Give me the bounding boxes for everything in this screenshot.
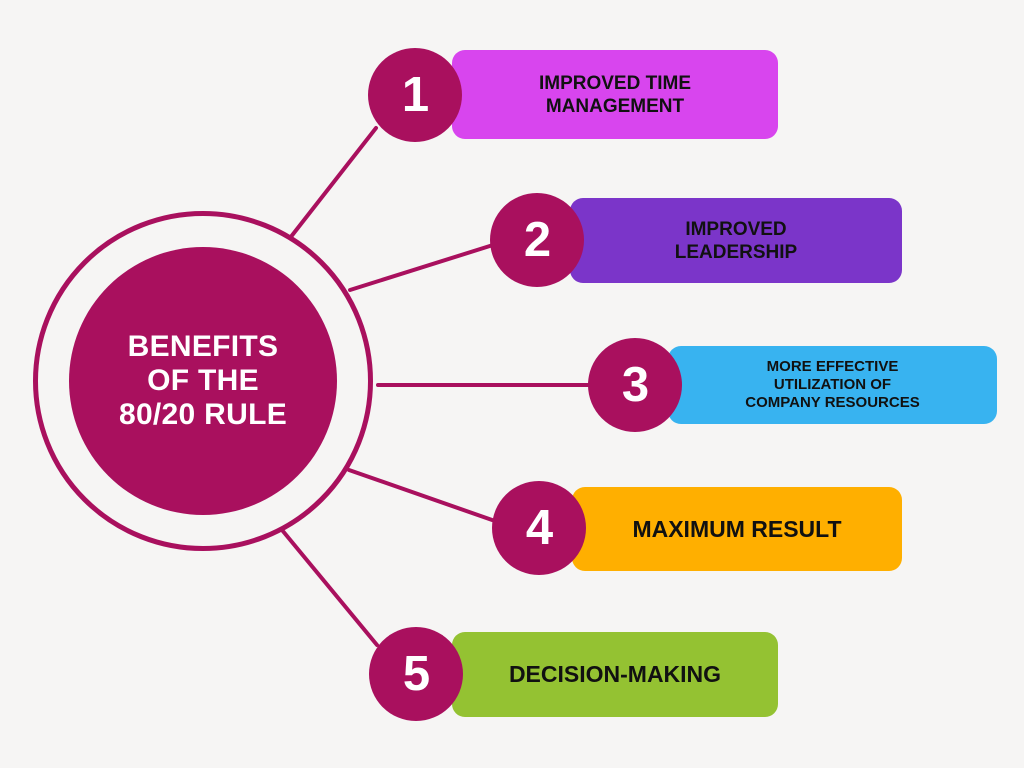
infographic-canvas: BENEFITS OF THE 80/20 RULE IMPROVED TIME… [0,0,1024,768]
benefit-number-badge-5[interactable]: 5 [369,627,463,721]
benefit-bar-4[interactable]: MAXIMUM RESULT [572,487,902,571]
benefit-number-badge-3[interactable]: 3 [588,338,682,432]
benefit-number-1: 1 [402,71,428,120]
benefit-number-2: 2 [524,216,550,265]
benefit-bar-2[interactable]: IMPROVED LEADERSHIP [570,198,902,283]
hub-inner-disc: BENEFITS OF THE 80/20 RULE [69,247,337,515]
central-hub[interactable]: BENEFITS OF THE 80/20 RULE [33,211,373,551]
benefit-number-5: 5 [403,650,429,699]
benefit-bar-5[interactable]: DECISION-MAKING [452,632,778,717]
benefit-number-3: 3 [622,361,648,410]
benefit-label-5: DECISION-MAKING [452,661,778,688]
benefit-number-4: 4 [526,504,552,553]
benefit-label-2: IMPROVED LEADERSHIP [570,218,902,264]
benefit-number-badge-4[interactable]: 4 [492,481,586,575]
benefit-label-1: IMPROVED TIME MANAGEMENT [452,72,778,118]
benefit-bar-3[interactable]: MORE EFFECTIVE UTILIZATION OF COMPANY RE… [668,346,997,424]
benefit-label-3: MORE EFFECTIVE UTILIZATION OF COMPANY RE… [668,358,997,412]
benefit-number-badge-2[interactable]: 2 [490,193,584,287]
page-title: BENEFITS OF THE 80/20 RULE [109,330,297,432]
benefit-number-badge-1[interactable]: 1 [368,48,462,142]
benefit-label-4: MAXIMUM RESULT [572,516,902,543]
benefit-bar-1[interactable]: IMPROVED TIME MANAGEMENT [452,50,778,139]
